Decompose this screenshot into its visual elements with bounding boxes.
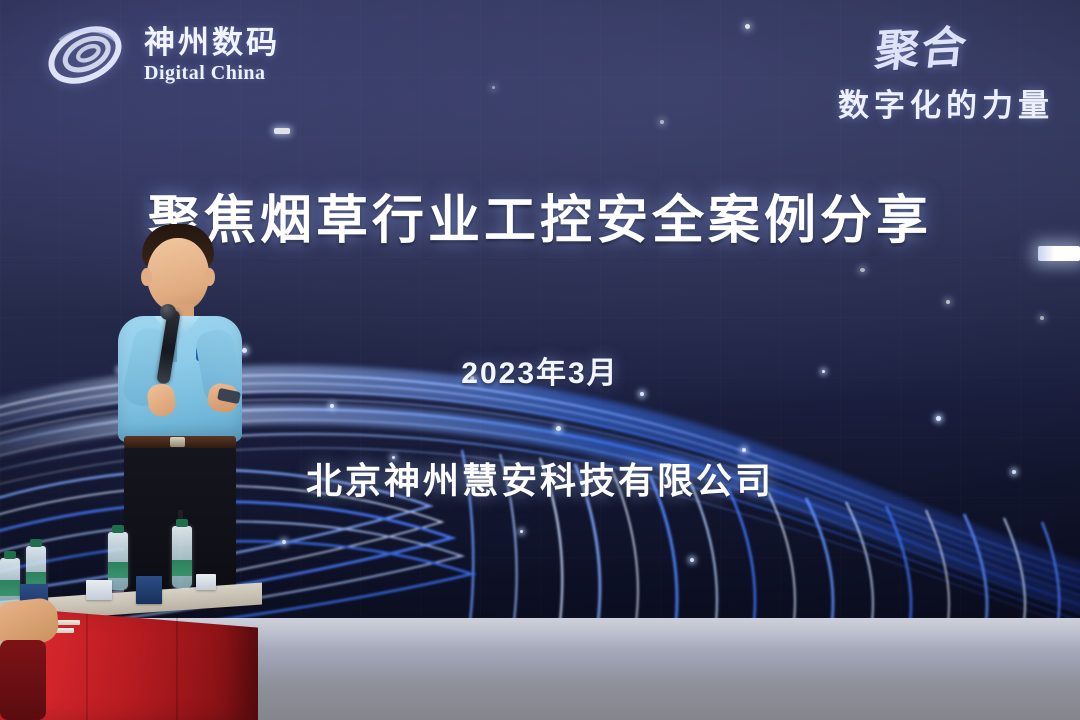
name-card [86, 580, 112, 600]
drape-fold [86, 614, 88, 720]
name-card [136, 576, 162, 604]
speaker-head [147, 238, 209, 312]
speaker-ear-left [141, 268, 152, 286]
chair-back [0, 640, 46, 720]
name-card [196, 574, 216, 590]
water-bottle [172, 526, 192, 588]
speaker-belt-buckle [170, 437, 185, 447]
speaker-ear-right [204, 268, 215, 286]
screenshot-root: 神州数码 Digital China 聚合 数字化的力量 聚焦烟草行业工控安全案… [0, 0, 1080, 720]
drape-fold [176, 614, 178, 720]
